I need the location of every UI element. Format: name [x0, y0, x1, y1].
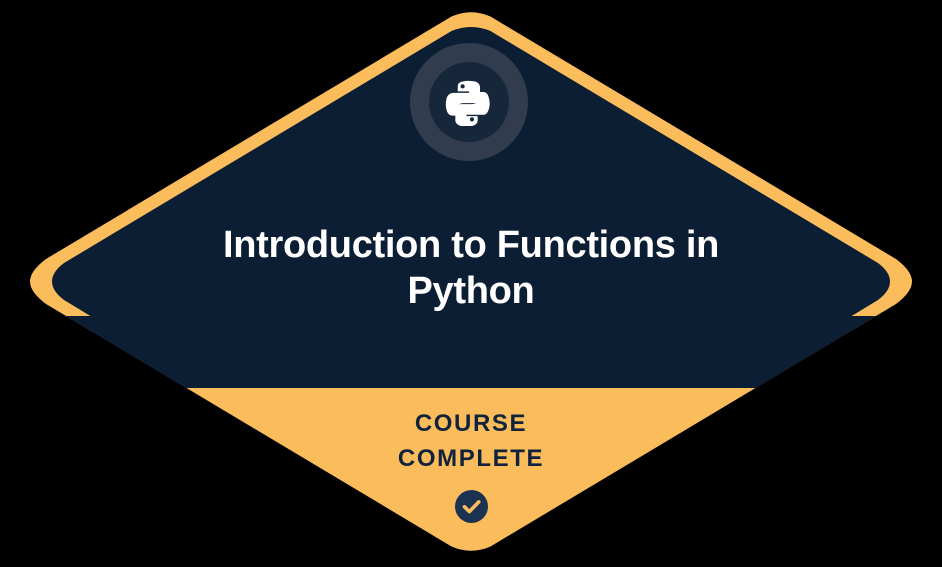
- course-emblem: [410, 43, 528, 161]
- badge-title: Introduction to Functions in Python: [171, 222, 771, 314]
- course-completion-badge: Introduction to Functions in Python COUR…: [0, 0, 942, 567]
- python-logo-icon: [445, 78, 493, 126]
- status-line-complete: COMPLETE: [271, 441, 671, 476]
- badge-status-block: COURSE COMPLETE: [271, 406, 671, 523]
- status-line-course: COURSE: [271, 406, 671, 441]
- check-circle-icon: [455, 490, 488, 523]
- check-badge-wrap: [271, 490, 671, 523]
